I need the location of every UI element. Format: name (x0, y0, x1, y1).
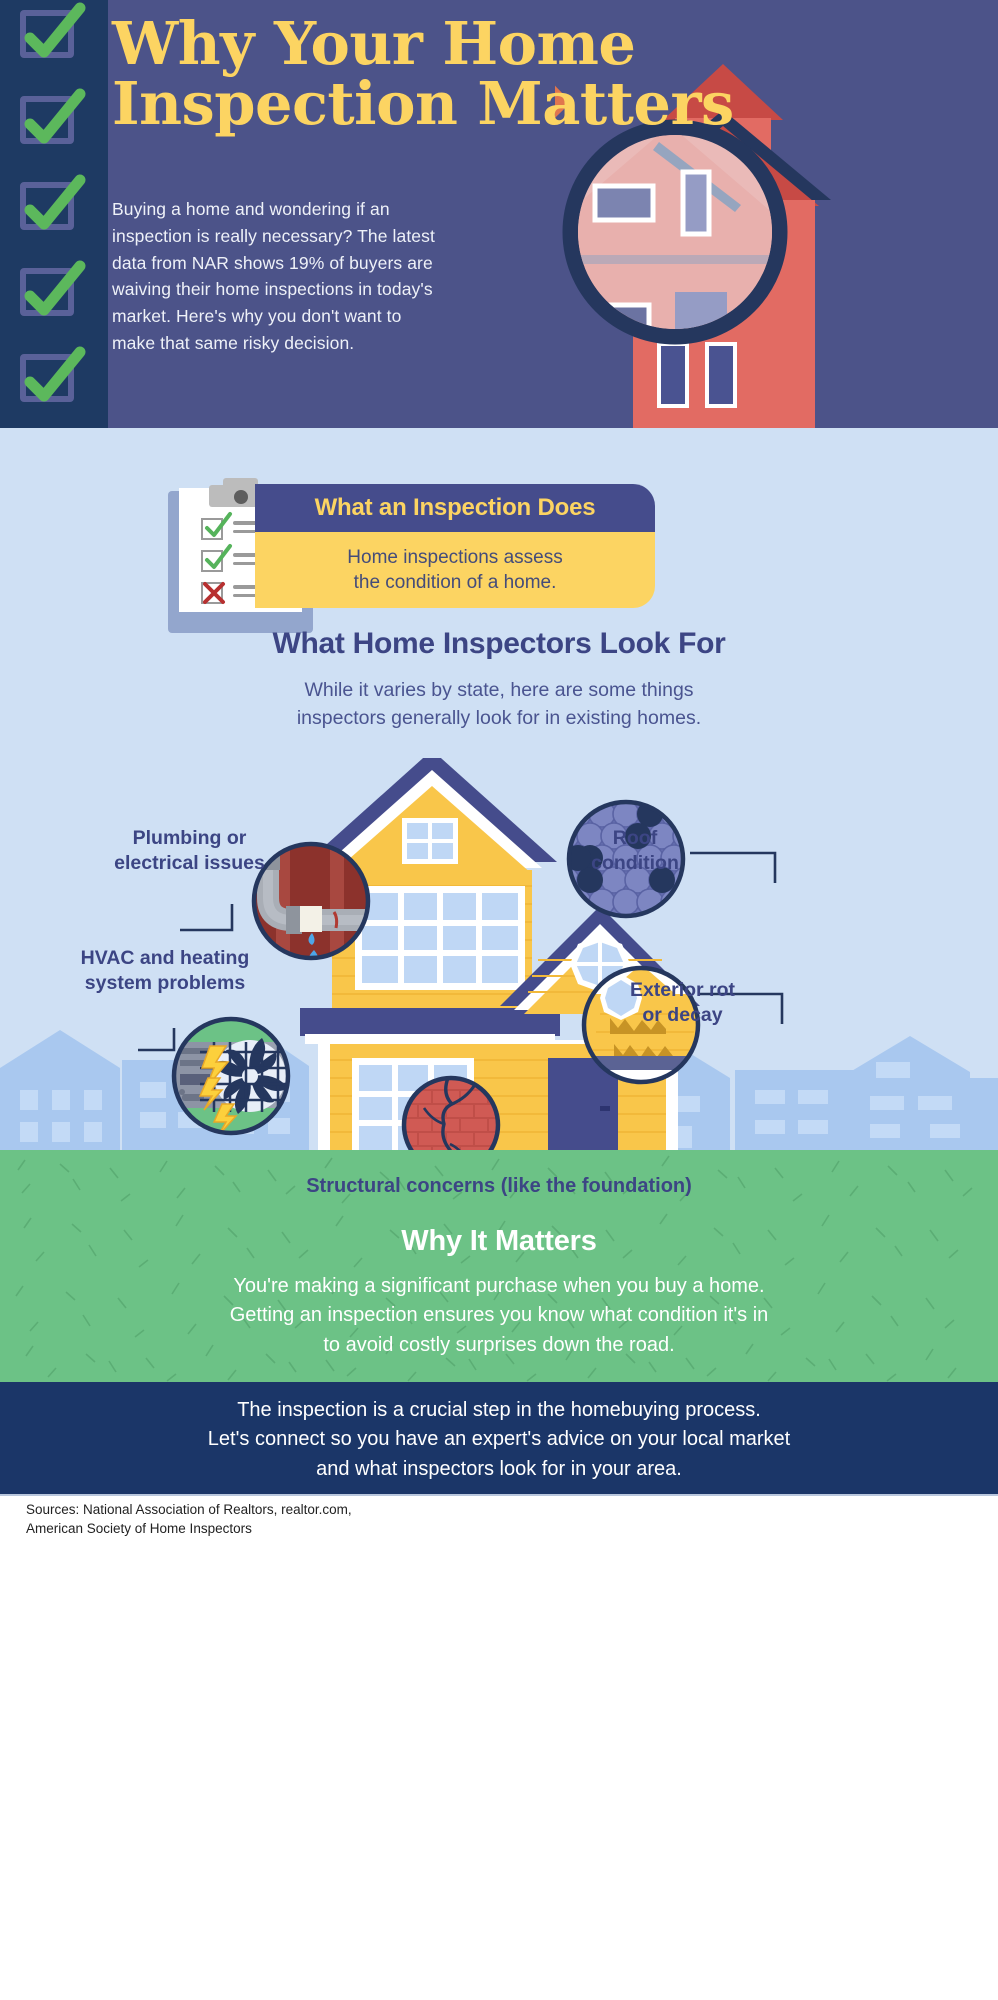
sources-line-2: American Society of Home Inspectors (26, 1519, 726, 1538)
inspection-section: What an Inspection Does Home inspections… (0, 428, 998, 1150)
checkbox-item (20, 354, 80, 406)
checkbox-item (20, 10, 80, 62)
check-icon (22, 256, 86, 328)
cta-line-3: and what inspectors look for in your are… (0, 1455, 998, 1484)
callout-label-hvac-line-2: system problems (50, 971, 280, 996)
checkbox-item (20, 96, 80, 148)
hero-body-text: Buying a home and wondering if an inspec… (112, 196, 442, 357)
check-icon (22, 170, 86, 242)
footer-section (0, 1494, 998, 2000)
check-icon (22, 84, 86, 156)
cta-line-1: The inspection is a crucial step in the … (0, 1396, 998, 1425)
callout-label-roof: Roof condition (545, 826, 725, 876)
callout-label-roof-line-1: Roof (545, 826, 725, 851)
page-title-line-2: Inspection Matters (112, 74, 752, 134)
plumbing-connector (180, 904, 232, 930)
why-it-matters-line-2: Getting an inspection ensures you know w… (0, 1301, 998, 1330)
why-it-matters-body: You're making a significant purchase whe… (0, 1272, 998, 1360)
page-title-line-1: Why Your Home (112, 14, 752, 74)
callout-label-plumbing-line-1: Plumbing or (92, 826, 287, 851)
callout-label-rot-line-2: or decay (585, 1003, 780, 1028)
cta-line-2: Let's connect so you have an expert's ad… (0, 1425, 998, 1454)
callout-label-roof-line-2: condition (545, 851, 725, 876)
check-icon (22, 342, 86, 414)
checkbox-item (20, 268, 80, 320)
callout-label-hvac: HVAC and heating system problems (50, 946, 280, 996)
hvac-connector (138, 1028, 174, 1050)
callout-label-structural: Structural concerns (like the foundation… (0, 1175, 998, 1198)
callout-label-rot-line-1: Exterior rot (585, 978, 780, 1003)
callout-label-plumbing-line-2: electrical issues (92, 851, 287, 876)
footer-divider (0, 1494, 998, 1496)
sources-text: Sources: National Association of Realtor… (26, 1500, 726, 1538)
sources-line-1: Sources: National Association of Realtor… (26, 1500, 726, 1519)
callout-label-hvac-line-1: HVAC and heating (50, 946, 280, 971)
why-it-matters-line-3: to avoid costly surprises down the road. (0, 1331, 998, 1360)
checkbox-item (20, 182, 80, 234)
hero-section: Why Your Home Inspection Matters Buying … (0, 0, 998, 428)
page-title: Why Your Home Inspection Matters (112, 14, 752, 134)
callout-circles (0, 428, 998, 1150)
check-icon (22, 0, 86, 70)
why-it-matters-line-1: You're making a significant purchase whe… (0, 1272, 998, 1301)
callout-label-exterior-rot: Exterior rot or decay (585, 978, 780, 1028)
infographic-page: Why Your Home Inspection Matters Buying … (0, 0, 998, 2000)
why-it-matters-heading: Why It Matters (0, 1225, 998, 1258)
hvac-circle (174, 1019, 288, 1136)
structural-circle (404, 1078, 498, 1150)
cta-text: The inspection is a crucial step in the … (0, 1396, 998, 1484)
callout-label-plumbing: Plumbing or electrical issues (92, 826, 287, 876)
